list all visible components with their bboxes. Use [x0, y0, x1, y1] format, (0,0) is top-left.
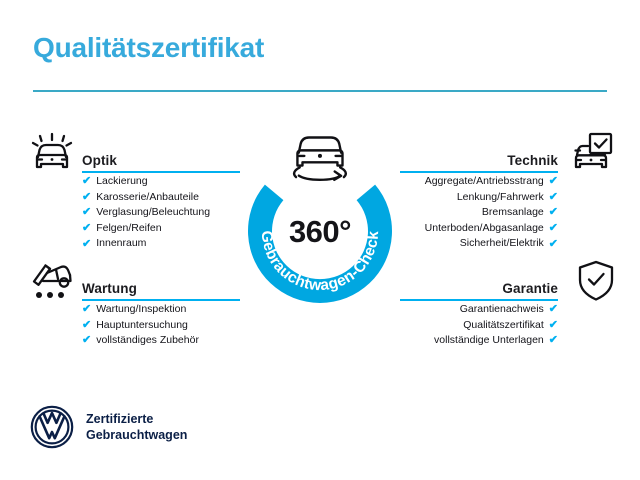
car-rotate-icon [294, 138, 346, 180]
360-badge: Gebrauchtwagen-Check 360° [240, 122, 400, 304]
check-icon: ✔ [82, 239, 91, 250]
check-icon: ✔ [82, 304, 91, 315]
vw-logo [30, 405, 74, 449]
check-icon: ✔ [549, 176, 558, 187]
car-checkbox-icon [567, 131, 615, 175]
list-item: ✔vollständiges Zubehör [82, 333, 240, 349]
section-technik: Technik Aggregate/Antriebsstrang✔ Lenkun… [400, 146, 558, 170]
check-icon: ✔ [82, 207, 91, 218]
check-icon: ✔ [82, 176, 91, 187]
list-item: ✔Felgen/Reifen [82, 221, 240, 237]
list-item-label: vollständiges Zubehör [96, 333, 199, 349]
list-item-label: Aggregate/Antriebsstrang [425, 174, 544, 190]
badge-value: 360° [240, 214, 400, 250]
footer-text: Zertifizierte Gebrauchtwagen [86, 411, 187, 443]
section-garantie: Garantie Garantienachweis✔ Qualitätszert… [400, 274, 558, 298]
list-item-label: vollständige Unterlagen [434, 333, 544, 349]
list-item-label: Lackierung [96, 174, 147, 190]
qualitaetszertifikat-page: Qualitätszertifikat Optik ✔Lackierung ✔K… [0, 0, 640, 480]
list-item-label: Sicherheit/Elektrik [460, 236, 544, 252]
check-icon: ✔ [82, 320, 91, 331]
section-wartung-items: ✔Wartung/Inspektion ✔Hauptuntersuchung ✔… [82, 302, 240, 349]
section-wartung: Wartung ✔Wartung/Inspektion ✔Hauptunters… [82, 274, 240, 298]
list-item: ✔Karosserie/Anbauteile [82, 190, 240, 206]
section-garantie-head: Garantie [400, 274, 558, 298]
car-headlights-icon [28, 131, 76, 175]
check-icon: ✔ [549, 239, 558, 250]
list-item-label: Hauptuntersuchung [96, 318, 188, 334]
list-item-label: Qualitätszertifikat [463, 318, 544, 334]
list-item: Bremsanlage✔ [400, 205, 558, 221]
header-divider [33, 90, 607, 92]
list-item-label: Wartung/Inspektion [96, 302, 186, 318]
list-item: Aggregate/Antriebsstrang✔ [400, 174, 558, 190]
list-item-label: Innenraum [96, 236, 146, 252]
list-item-label: Lenkung/Fahrwerk [457, 190, 544, 206]
section-garantie-title: Garantie [502, 281, 558, 296]
check-icon: ✔ [82, 223, 91, 234]
list-item: ✔Wartung/Inspektion [82, 302, 240, 318]
section-optik-divider [82, 171, 240, 173]
list-item-label: Verglasung/Beleuchtung [96, 205, 210, 221]
check-icon: ✔ [549, 207, 558, 218]
check-icon: ✔ [549, 335, 558, 346]
list-item-label: Garantienachweis [460, 302, 544, 318]
list-item: Unterboden/Abgasanlage✔ [400, 221, 558, 237]
list-item: Lenkung/Fahrwerk✔ [400, 190, 558, 206]
section-technik-divider [400, 171, 558, 173]
section-technik-head: Technik [400, 146, 558, 170]
list-item: ✔Lackierung [82, 174, 240, 190]
shield-check-icon [572, 259, 620, 303]
section-garantie-items: Garantienachweis✔ Qualitätszertifikat✔ v… [400, 302, 558, 349]
section-optik-head: Optik [82, 146, 240, 170]
section-wartung-title: Wartung [82, 281, 137, 296]
check-icon: ✔ [82, 192, 91, 203]
list-item: ✔Verglasung/Beleuchtung [82, 205, 240, 221]
list-item: ✔Hauptuntersuchung [82, 318, 240, 334]
footer-line-2: Gebrauchtwagen [86, 427, 187, 443]
section-optik-items: ✔Lackierung ✔Karosserie/Anbauteile ✔Verg… [82, 174, 240, 252]
list-item-label: Felgen/Reifen [96, 221, 161, 237]
section-garantie-divider [400, 299, 558, 301]
section-technik-items: Aggregate/Antriebsstrang✔ Lenkung/Fahrwe… [400, 174, 558, 252]
list-item: ✔Innenraum [82, 236, 240, 252]
list-item-label: Unterboden/Abgasanlage [425, 221, 544, 237]
section-optik: Optik ✔Lackierung ✔Karosserie/Anbauteile… [82, 146, 240, 170]
check-icon: ✔ [82, 335, 91, 346]
check-icon: ✔ [549, 320, 558, 331]
list-item-label: Karosserie/Anbauteile [96, 190, 199, 206]
list-item: Sicherheit/Elektrik✔ [400, 236, 558, 252]
list-item: vollständige Unterlagen✔ [400, 333, 558, 349]
page-title: Qualitätszertifikat [33, 32, 264, 64]
check-icon: ✔ [549, 223, 558, 234]
section-wartung-divider [82, 299, 240, 301]
check-icon: ✔ [549, 192, 558, 203]
section-wartung-head: Wartung [82, 274, 240, 298]
list-item: Qualitätszertifikat✔ [400, 318, 558, 334]
footer-line-1: Zertifizierte [86, 411, 187, 427]
section-technik-title: Technik [507, 153, 558, 168]
section-optik-title: Optik [82, 153, 117, 168]
list-item-label: Bremsanlage [482, 205, 544, 221]
list-item: Garantienachweis✔ [400, 302, 558, 318]
check-icon: ✔ [549, 304, 558, 315]
footer: Zertifizierte Gebrauchtwagen [30, 405, 187, 449]
car-service-pen-icon [28, 259, 76, 303]
